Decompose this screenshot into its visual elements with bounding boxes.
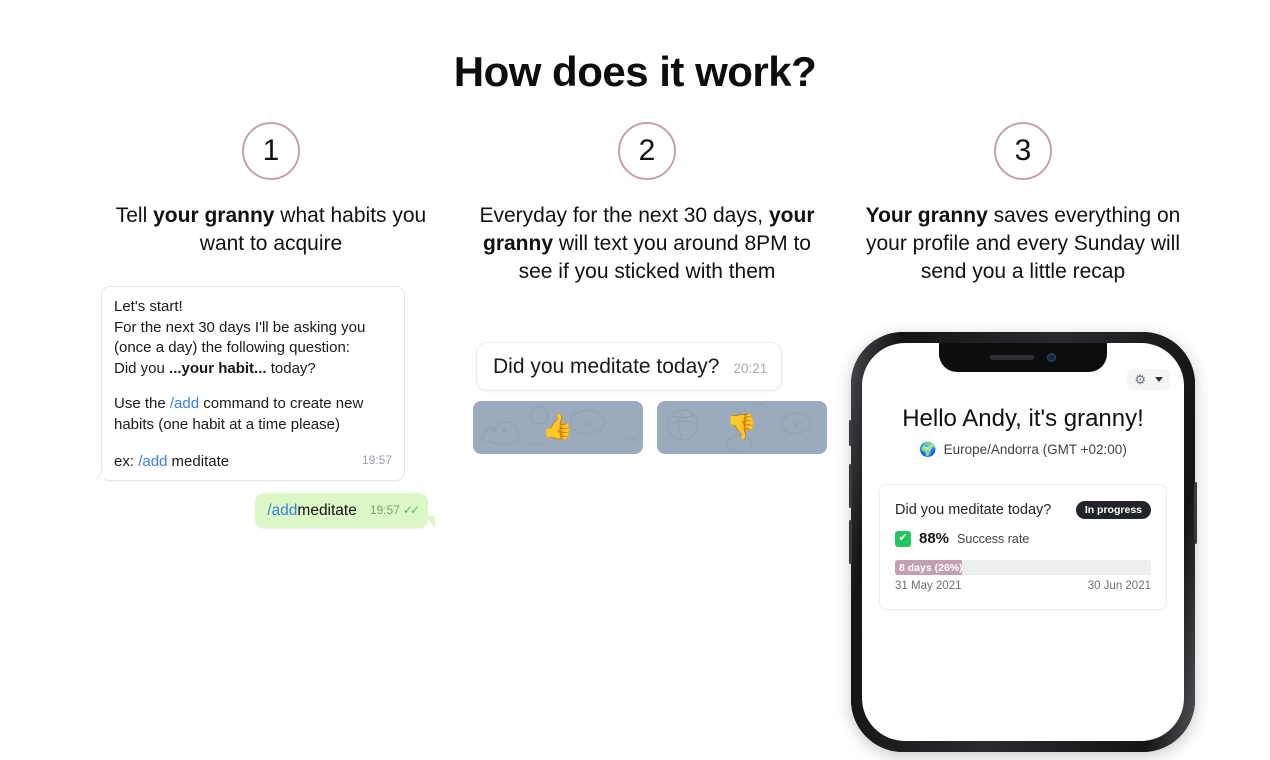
step-number-3: 3: [1015, 134, 1032, 168]
incoming-line-4: Did you ...your habit... today?: [114, 359, 392, 380]
earpiece-speaker-icon: [990, 355, 1034, 360]
step-heading-3: Your granny saves everything on your pro…: [853, 202, 1193, 286]
progress-bar-fill: 8 days (26%): [895, 560, 962, 575]
incoming-timestamp: 19:57: [362, 450, 392, 473]
quick-reply-row: 👍 👎: [473, 401, 827, 454]
step-heading-2: Everyday for the next 30 days, your gran…: [477, 202, 817, 286]
step-heading-2-part-3: will text you around 8PM to see if you s…: [519, 232, 811, 283]
outgoing-message-row: /add meditate 19:57 ✓✓: [101, 493, 441, 528]
step-number-badge-3: 3: [994, 122, 1052, 180]
step-number-1: 1: [263, 134, 280, 168]
outgoing-message-bubble: /add meditate 19:57 ✓✓: [255, 493, 428, 528]
add-command-link-1[interactable]: /add: [170, 395, 199, 412]
incoming-question-suffix: today?: [267, 360, 316, 377]
incoming-use-prefix: Use the: [114, 395, 170, 412]
habit-question: Did you meditate today?: [895, 502, 1051, 518]
question-message-bubble: Did you meditate today? 20:21: [476, 342, 782, 391]
incoming-line-2: For the next 30 days I'll be asking you: [114, 318, 392, 339]
incoming-example: ex: /add meditate: [114, 452, 229, 473]
gear-icon: ⚙: [1134, 373, 1146, 386]
step-heading-3-part-1: Your granny: [866, 204, 988, 227]
steps-container: 1 Tell your granny what habits you want …: [0, 122, 1270, 632]
step-number-2: 2: [639, 134, 656, 168]
thumbs-up-icon: 👍: [542, 415, 573, 440]
reply-button-thumbs-down[interactable]: 👎: [657, 401, 827, 454]
reply-button-thumbs-up[interactable]: 👍: [473, 401, 643, 454]
front-camera-icon: [1047, 353, 1056, 362]
incoming-line-6: habits (one habit at a time please): [114, 415, 392, 436]
incoming-example-suffix: meditate: [167, 453, 229, 470]
progress-label: 8 days (26%): [895, 562, 963, 574]
outgoing-timestamp: 19:57: [370, 501, 400, 520]
habit-card[interactable]: Did you meditate today? In progress ✔ 88…: [879, 484, 1167, 610]
phone-timezone-row: 🌍 Europe/Andorra (GMT +02:00): [862, 441, 1184, 458]
incoming-message-bubble: Let's start! For the next 30 days I'll b…: [101, 286, 405, 481]
outgoing-command: /add: [267, 501, 297, 520]
incoming-line-1: Let's start!: [114, 297, 392, 318]
success-label: Success rate: [957, 532, 1029, 546]
thumbs-down-icon: 👎: [726, 415, 757, 440]
check-icon: ✔: [895, 531, 911, 547]
phone-screen: ⚙ Hello Andy, it's granny! 🌍 Europe/Ando…: [862, 343, 1184, 741]
chat-thread-one: Let's start! For the next 30 days I'll b…: [101, 286, 441, 528]
incoming-line-3: (once a day) the following question:: [114, 338, 392, 359]
step-column-1: 1 Tell your granny what habits you want …: [83, 122, 459, 632]
phone-timezone-label: Europe/Andorra (GMT +02:00): [944, 442, 1127, 457]
phone-power-button[interactable]: [1194, 482, 1197, 544]
phone-body: ⚙ Hello Andy, it's granny! 🌍 Europe/Ando…: [851, 332, 1195, 752]
progress-bar: 8 days (26%): [895, 560, 1151, 575]
page-title: How does it work?: [0, 0, 1270, 96]
chat-thread-two: Did you meditate today? 20:21: [473, 342, 821, 454]
incoming-example-row: ex: /add meditate 19:57: [114, 450, 392, 473]
incoming-example-prefix: ex:: [114, 453, 138, 470]
question-text: Did you meditate today?: [493, 354, 719, 379]
habit-card-header: Did you meditate today? In progress: [895, 501, 1151, 519]
incoming-use-suffix: command to create new: [199, 395, 363, 412]
settings-menu-button[interactable]: ⚙: [1127, 369, 1170, 390]
outgoing-text: meditate: [297, 501, 356, 520]
phone-volume-down-button[interactable]: [849, 520, 852, 564]
step-heading-1-part-2: your granny: [153, 204, 274, 227]
incoming-question-prefix: Did you: [114, 360, 169, 377]
success-percent: 88%: [919, 530, 949, 547]
phone-silent-switch[interactable]: [849, 420, 852, 446]
incoming-spacer-1: [114, 379, 392, 394]
add-command-link-2[interactable]: /add: [138, 453, 167, 470]
phone-greeting: Hello Andy, it's granny!: [862, 405, 1184, 433]
progress-date-range: 31 May 2021 30 Jun 2021: [895, 580, 1151, 592]
progress-end-date: 30 Jun 2021: [1088, 580, 1151, 592]
phone-mockup: ⚙ Hello Andy, it's granny! 🌍 Europe/Ando…: [851, 332, 1195, 632]
step-column-2: 2 Everyday for the next 30 days, your gr…: [459, 122, 835, 632]
chevron-down-icon: [1155, 377, 1163, 382]
progress-start-date: 31 May 2021: [895, 580, 962, 592]
step-heading-1: Tell your granny what habits you want to…: [101, 202, 441, 258]
step-number-badge-1: 1: [242, 122, 300, 180]
incoming-line-5: Use the /add command to create new: [114, 394, 392, 415]
globe-icon: 🌍: [919, 441, 936, 458]
step-heading-2-part-1: Everyday for the next 30 days,: [479, 204, 769, 227]
phone-volume-up-button[interactable]: [849, 464, 852, 508]
incoming-question-placeholder: ...your habit...: [169, 360, 267, 377]
step-heading-1-part-1: Tell: [116, 204, 153, 227]
step-number-badge-2: 2: [618, 122, 676, 180]
status-badge: In progress: [1076, 501, 1151, 519]
incoming-spacer-2: [114, 435, 392, 450]
habit-success-row: ✔ 88% Success rate: [895, 530, 1151, 547]
question-timestamp: 20:21: [733, 361, 767, 376]
step-column-3: 3 Your granny saves everything on your p…: [835, 122, 1211, 632]
delivered-checks-icon: ✓✓: [403, 501, 417, 520]
phone-notch: [939, 343, 1107, 372]
